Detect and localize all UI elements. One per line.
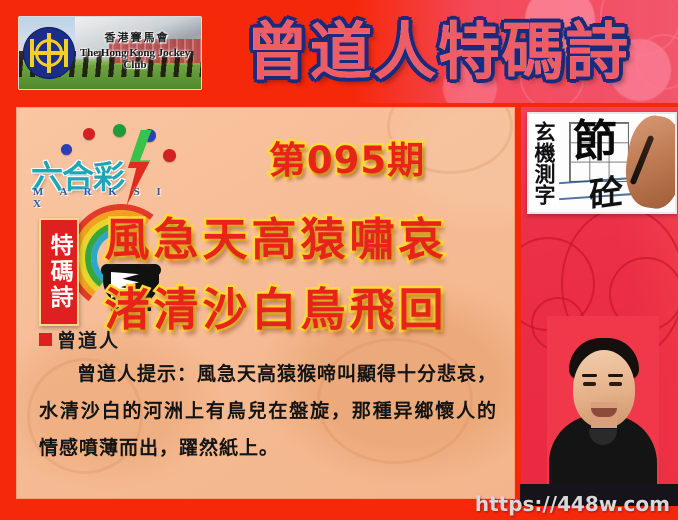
site-watermark: https://448w.com: [475, 492, 670, 516]
lottery-ball-icon: [113, 124, 126, 137]
xuanji-divination-card[interactable]: 玄機測字 節 砼: [527, 112, 677, 214]
explanation-text: 曾道人提示：風急天高猿猴啼叫顯得十分悲哀，水清沙白的河洲上有鳥兒在盤旋，那種异鄉…: [39, 356, 497, 467]
master-portrait: [547, 316, 659, 497]
issue-number: 第095期: [187, 130, 507, 184]
poem-line-1: 風急天高猿嘯哀: [37, 203, 515, 268]
poster-title: 曾道人特碼詩: [208, 14, 668, 90]
lottery-ball-icon: [83, 128, 95, 140]
hong-kong-jockey-club-logo: 香港賽馬會 The Hong Kong Jockey Club: [18, 16, 202, 90]
lottery-poster: 香港賽馬會 The Hong Kong Jockey Club 曾道人特碼詩 六…: [0, 0, 678, 520]
poem-line-2: 渚清沙白鳥飛回: [37, 273, 515, 338]
divination-character: 節: [573, 120, 617, 164]
jockey-club-chinese-name: 香港賽馬會: [77, 29, 197, 45]
main-content-panel: 六合彩 M A R K S I X 特碼詩 曾道人 第095期 風急天高猿嘯哀 …: [16, 107, 515, 499]
poster-header: 香港賽馬會 The Hong Kong Jockey Club 曾道人特碼詩: [0, 0, 678, 103]
mark-six-logo: 六合彩 M A R K S I X: [25, 122, 185, 206]
xuanji-label: 玄機測字: [529, 114, 559, 212]
jockey-club-english-name: The Hong Kong Jockey Club: [69, 47, 201, 71]
lottery-ball-icon: [163, 149, 176, 162]
jockey-club-emblem-icon: [23, 27, 75, 79]
handwritten-character: 砼: [589, 163, 623, 212]
calligraphy-image: 節 砼: [559, 114, 675, 212]
